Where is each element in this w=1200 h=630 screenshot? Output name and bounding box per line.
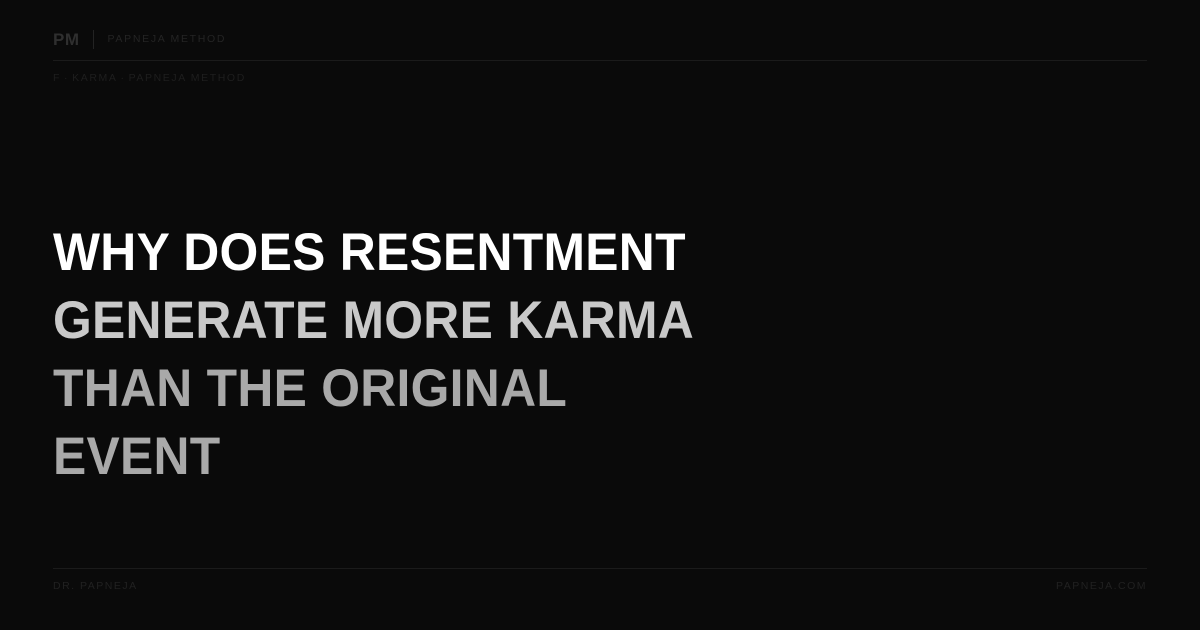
headline-line-3: THAN THE ORIGINAL	[53, 355, 993, 423]
slide-canvas: PM PAPNEJA METHOD F·KARMA·PAPNEJA METHOD…	[0, 0, 1200, 630]
footer-bar: DR. PAPNEJA PAPNEJA.COM	[53, 579, 1147, 593]
page-title: WHY DOES RESENTMENT GENERATE MORE KARMA …	[53, 219, 1053, 491]
breadcrumb-item-0[interactable]: F	[53, 72, 61, 84]
logo-monogram: PM	[53, 31, 80, 48]
footer-website[interactable]: PAPNEJA.COM	[1056, 579, 1147, 593]
headline-line-2: GENERATE MORE KARMA	[53, 287, 993, 355]
header-brand-bar: PM PAPNEJA METHOD	[53, 25, 1147, 53]
headline-line-1: WHY DOES RESENTMENT	[53, 219, 993, 287]
breadcrumb-separator: ·	[117, 72, 128, 84]
logo-divider	[93, 30, 94, 49]
brand-wordmark: PAPNEJA METHOD	[108, 34, 227, 45]
header-divider-rule	[53, 60, 1147, 61]
breadcrumb-item-1[interactable]: KARMA	[72, 72, 117, 84]
footer-author: DR. PAPNEJA	[53, 579, 138, 593]
headline-line-4: EVENT	[53, 423, 993, 491]
breadcrumb-item-2[interactable]: PAPNEJA METHOD	[129, 72, 246, 84]
breadcrumb: F·KARMA·PAPNEJA METHOD	[53, 71, 246, 85]
breadcrumb-separator: ·	[61, 72, 72, 84]
footer-divider-rule	[53, 568, 1147, 569]
